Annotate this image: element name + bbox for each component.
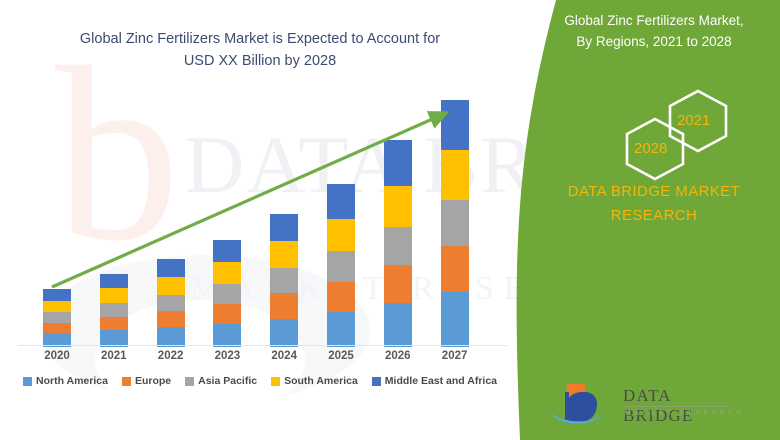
bar-segment-2027-middle-east-and-africa [441,100,469,149]
green-panel-title-line1: Global Zinc Fertilizers Market, [538,10,770,31]
x-label-2027: 2027 [425,350,485,362]
bar-segment-2021-middle-east-and-africa [100,274,128,289]
legend-label: North America [36,375,108,387]
bar-segment-2026-asia-pacific [384,227,412,265]
bar-segment-2027-asia-pacific [441,200,469,246]
legend-label: Europe [135,375,171,387]
x-label-2020: 2020 [27,350,87,362]
chart-legend: North AmericaEuropeAsia PacificSouth Ame… [0,375,520,387]
bar-segment-2025-middle-east-and-africa [327,184,355,219]
bar-segment-2020-asia-pacific [43,312,71,323]
page-title-line2: USD XX Billion by 2028 [40,50,480,72]
legend-swatch-icon [23,377,32,386]
legend-label: Middle East and Africa [385,375,497,387]
bar-segment-2023-middle-east-and-africa [213,240,241,262]
x-label-2023: 2023 [197,350,257,362]
brand-name: DATA BRIDGE MARKET RESEARCH [530,180,778,228]
logo-mark-icon [545,382,617,428]
bar-segment-2027-europe [441,246,469,292]
bar-2025 [327,184,355,347]
bar-segment-2024-asia-pacific [270,268,298,293]
legend-swatch-icon [271,377,280,386]
bar-segment-2024-south-america [270,241,298,268]
bar-segment-2027-north-america [441,292,469,347]
x-label-2026: 2026 [368,350,428,362]
bar-segment-2025-north-america [327,312,355,347]
page-title-line1: Global Zinc Fertilizers Market is Expect… [40,28,480,50]
x-label-2022: 2022 [141,350,201,362]
brand-name-line1: DATA BRIDGE MARKET [530,180,778,204]
logo-tagline: MARKET RESEARCH [624,408,745,417]
bar-2021 [100,274,128,347]
bar-2026 [384,140,412,347]
bar-segment-2023-europe [213,304,241,324]
x-label-2021: 2021 [84,350,144,362]
bar-segment-2027-south-america [441,150,469,200]
bar-2023 [213,240,241,347]
bar-2024 [270,214,298,347]
bar-segment-2024-middle-east-and-africa [270,214,298,241]
legend-swatch-icon [372,377,381,386]
bar-segment-2023-asia-pacific [213,284,241,304]
bar-segment-2024-north-america [270,319,298,347]
bar-segment-2021-europe [100,317,128,331]
bar-segment-2020-middle-east-and-africa [43,289,71,301]
x-label-2025: 2025 [311,350,371,362]
bar-segment-2022-middle-east-and-africa [157,259,185,277]
legend-item-europe[interactable]: Europe [122,375,171,387]
bar-segment-2026-north-america [384,303,412,347]
green-panel-content: Global Zinc Fertilizers Market, By Regio… [520,0,780,440]
green-panel-title-line2: By Regions, 2021 to 2028 [538,31,770,52]
bar-segment-2025-europe [327,282,355,312]
green-panel-title: Global Zinc Fertilizers Market, By Regio… [538,10,770,52]
legend-swatch-icon [185,377,194,386]
bar-2020 [43,289,71,347]
legend-item-north-america[interactable]: North America [23,375,108,387]
bar-segment-2024-europe [270,293,298,318]
legend-item-south-america[interactable]: South America [271,375,358,387]
hexagon-label-2021: 2021 [677,112,710,129]
bar-segment-2022-north-america [157,327,185,347]
bar-chart-plot [0,95,520,347]
bar-segment-2026-south-america [384,186,412,227]
bar-segment-2022-europe [157,311,185,327]
x-axis-labels: 20202021202220232024202520262027 [0,350,520,370]
brand-name-line2: RESEARCH [530,204,778,228]
bar-segment-2023-north-america [213,324,241,347]
bar-2027 [441,100,469,347]
hexagon-shapes-icon [550,85,750,185]
x-axis-line [18,345,508,346]
bar-segment-2021-asia-pacific [100,303,128,317]
legend-swatch-icon [122,377,131,386]
legend-item-asia-pacific[interactable]: Asia Pacific [185,375,257,387]
hexagon-label-2028: 2028 [634,140,667,157]
legend-label: Asia Pacific [198,375,257,387]
bar-segment-2022-asia-pacific [157,295,185,312]
hexagon-group: 2021 2028 [550,85,750,185]
bar-segment-2022-south-america [157,277,185,295]
bar-segment-2020-south-america [43,301,71,313]
bar-segment-2020-europe [43,323,71,334]
bar-segment-2023-south-america [213,262,241,284]
bar-segment-2021-south-america [100,288,128,303]
bar-segment-2025-south-america [327,219,355,252]
bar-2022 [157,259,185,347]
x-label-2024: 2024 [254,350,314,362]
bar-segment-2025-asia-pacific [327,251,355,281]
legend-label: South America [284,375,358,387]
legend-item-middle-east-and-africa[interactable]: Middle East and Africa [372,375,497,387]
data-bridge-logo: DATA BRIDGE MARKET RESEARCH [545,382,745,430]
bar-segment-2026-europe [384,265,412,303]
page-title: Global Zinc Fertilizers Market is Expect… [40,28,480,72]
logo-divider [623,406,731,407]
bar-segment-2026-middle-east-and-africa [384,140,412,186]
infographic-canvas: b DATA BRIDGE MARKET RESEARCH Global Zin… [0,0,780,440]
